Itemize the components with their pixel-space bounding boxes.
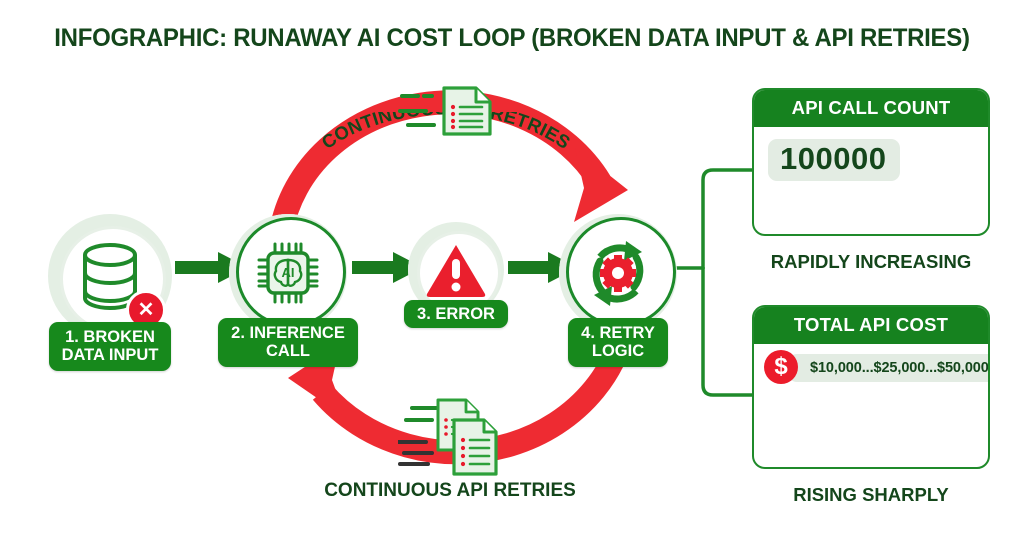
node-ring: AI [229, 214, 347, 332]
flow-node-broken-data[interactable]: ✕ 1. BROKEN DATA INPUT [34, 214, 186, 371]
total-api-cost-value: $10,000...$25,000...$50,000 [788, 354, 990, 382]
metric-card-api-call-count[interactable]: API CALL COUNT 100000 [752, 88, 990, 236]
flow-node-error[interactable]: 3. ERROR [400, 222, 512, 328]
dollar-icon: $ [764, 350, 798, 384]
node-ring: ✕ [48, 214, 172, 338]
documents-flying-icon-top [398, 82, 506, 145]
metric-card-total-api-cost[interactable]: TOTAL API COST $10,000...$25,000...$50,0… [752, 305, 990, 469]
documents-flying-icon-bottom [398, 398, 518, 485]
flow-node-label: 2. INFERENCE CALL [218, 318, 358, 367]
api-call-count-value: 100000 [768, 139, 900, 181]
flow-node-label: 3. ERROR [404, 300, 508, 328]
infographic-canvas: CONTINUOUS API RETRIES CONTINUOUS API RE… [0, 0, 1024, 538]
warning-triangle-icon [425, 242, 487, 298]
flow-node-label: 1. BROKEN DATA INPUT [49, 322, 172, 371]
ai-chip-icon: AI [251, 236, 325, 310]
card-header: TOTAL API COST [754, 307, 988, 344]
flow-node-label: 4. RETRY LOGIC [568, 318, 668, 367]
caption-total-api-cost: RISING SHARPLY [752, 484, 990, 506]
card-header: API CALL COUNT [754, 90, 988, 127]
flow-node-inference-call[interactable]: AI 2. INFERENCE CALL [214, 214, 362, 367]
caption-api-call-count: RAPIDLY INCREASING [752, 251, 990, 273]
flow-node-retry-logic[interactable]: 4. RETRY LOGIC [544, 214, 692, 367]
retry-gear-icon [580, 235, 656, 311]
svg-text:AI: AI [282, 265, 295, 280]
node-ring [559, 214, 677, 332]
